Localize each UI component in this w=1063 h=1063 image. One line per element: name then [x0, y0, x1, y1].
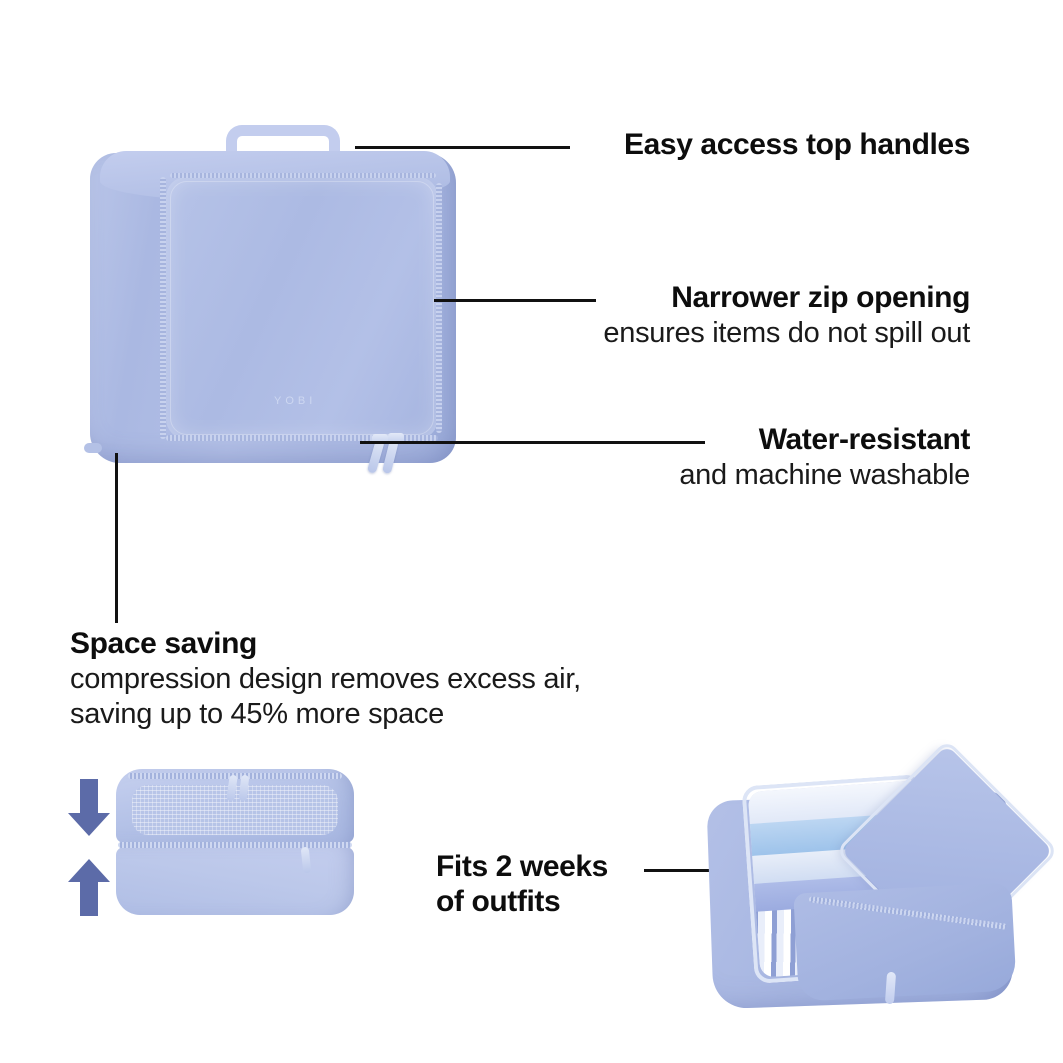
- callout-space-saving-sub-line-1: compression design removes excess air,: [70, 662, 770, 697]
- compression-zipper-middle: [118, 842, 352, 848]
- callout-zip-opening-headline: Narrower zip opening: [380, 281, 970, 316]
- open-cube-image: [700, 760, 1030, 1028]
- callout-capacity-headline-line-2: of outfits: [436, 885, 736, 920]
- brand-label: YOBI: [274, 395, 316, 407]
- cube-zipper-left: [160, 177, 166, 439]
- callout-space-saving-sub-line-2: saving up to 45% more space: [70, 697, 770, 732]
- leader-line-space-saving: [115, 453, 118, 623]
- compression-cube-lower: [116, 847, 354, 915]
- arrow-up-icon: [66, 859, 112, 917]
- callout-zip-opening: Narrower zip opening ensures items do no…: [380, 281, 970, 351]
- infographic-canvas: YOBI Easy access top handles Narrower zi…: [0, 0, 1063, 1063]
- callout-water-resistant-sub: and machine washable: [380, 458, 970, 493]
- cube-corner-tab: [84, 443, 102, 453]
- callout-space-saving: Space saving compression design removes …: [70, 627, 770, 731]
- callout-space-saving-headline: Space saving: [70, 627, 770, 662]
- callout-capacity-headline-line-1: Fits 2 weeks: [436, 850, 736, 885]
- callout-top-handles: Easy access top handles: [400, 128, 970, 163]
- compression-cube-image: [110, 763, 360, 923]
- arrow-down-icon: [66, 779, 112, 837]
- callout-top-handles-headline: Easy access top handles: [400, 128, 970, 163]
- callout-zip-opening-sub: ensures items do not spill out: [380, 316, 970, 351]
- callout-water-resistant-headline: Water-resistant: [380, 423, 970, 458]
- callout-capacity: Fits 2 weeks of outfits: [436, 850, 736, 920]
- cube-zipper-top: [170, 173, 436, 178]
- callout-water-resistant: Water-resistant and machine washable: [380, 423, 970, 493]
